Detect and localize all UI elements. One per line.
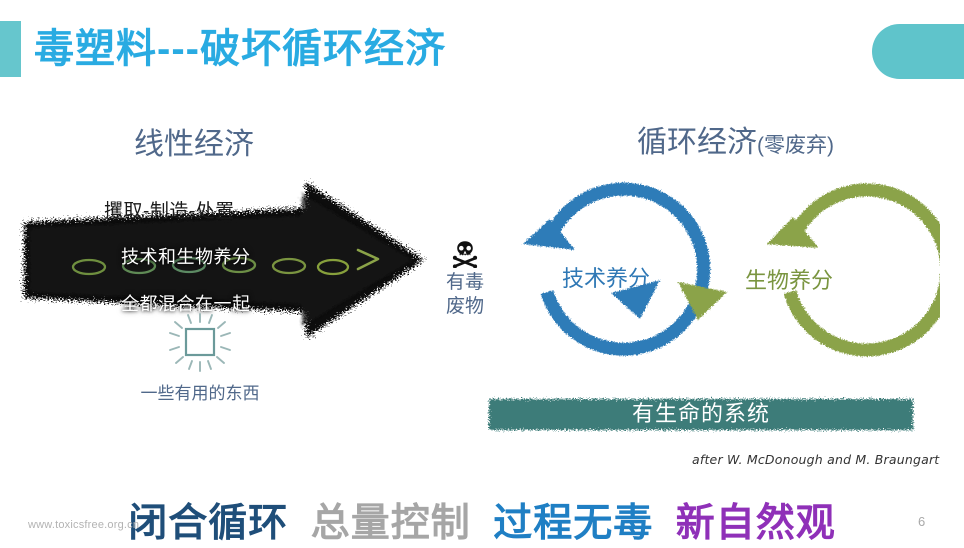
circular-economy-heading: 循环经济(零废弃): [637, 117, 834, 161]
slogan-word-closed-loop: 闭合循环: [128, 492, 288, 548]
butterfly-loops-diagram: [490, 172, 940, 402]
technical-nutrient-label: 技术养分: [562, 261, 650, 293]
arrow-inner-label-nutrients: 技术和生物养分: [121, 243, 251, 269]
page-number: 6: [918, 514, 925, 529]
circular-economy-heading-sub: (零废弃): [757, 134, 834, 157]
page-title: 毒塑料---破坏循环经济: [34, 23, 446, 75]
arrow-top-label: 攫取-制造-处置: [104, 196, 235, 223]
attribution-text: after W. McDonough and M. Braungart: [692, 452, 939, 467]
circular-economy-heading-main: 循环经济: [637, 126, 757, 159]
slogan-word-total-control: 总量控制: [311, 492, 471, 548]
slogan-word-new-nature-view: 新自然观: [676, 492, 836, 548]
footer-url: www.toxicsfree.org.cn: [28, 519, 139, 531]
biological-nutrient-label: 生物养分: [745, 263, 833, 295]
slogan-word-nontoxic-process: 过程无毒: [493, 492, 653, 548]
bottom-slogan-banner: 闭合循环 总量控制 过程无毒 新自然观: [0, 492, 964, 548]
corner-decoration-shape: [872, 24, 964, 79]
living-system-label: 有生命的系统: [483, 398, 919, 430]
title-accent-bar: [0, 21, 21, 77]
useful-things-group: 一些有用的东西: [105, 312, 295, 404]
skull-and-crossbones-icon: [450, 240, 480, 268]
circular-economy-diagram: [490, 172, 940, 402]
linear-economy-heading: 线性经济: [134, 119, 254, 163]
useful-things-label: 一些有用的东西: [105, 379, 295, 404]
sparkling-square-icon: [163, 312, 237, 374]
